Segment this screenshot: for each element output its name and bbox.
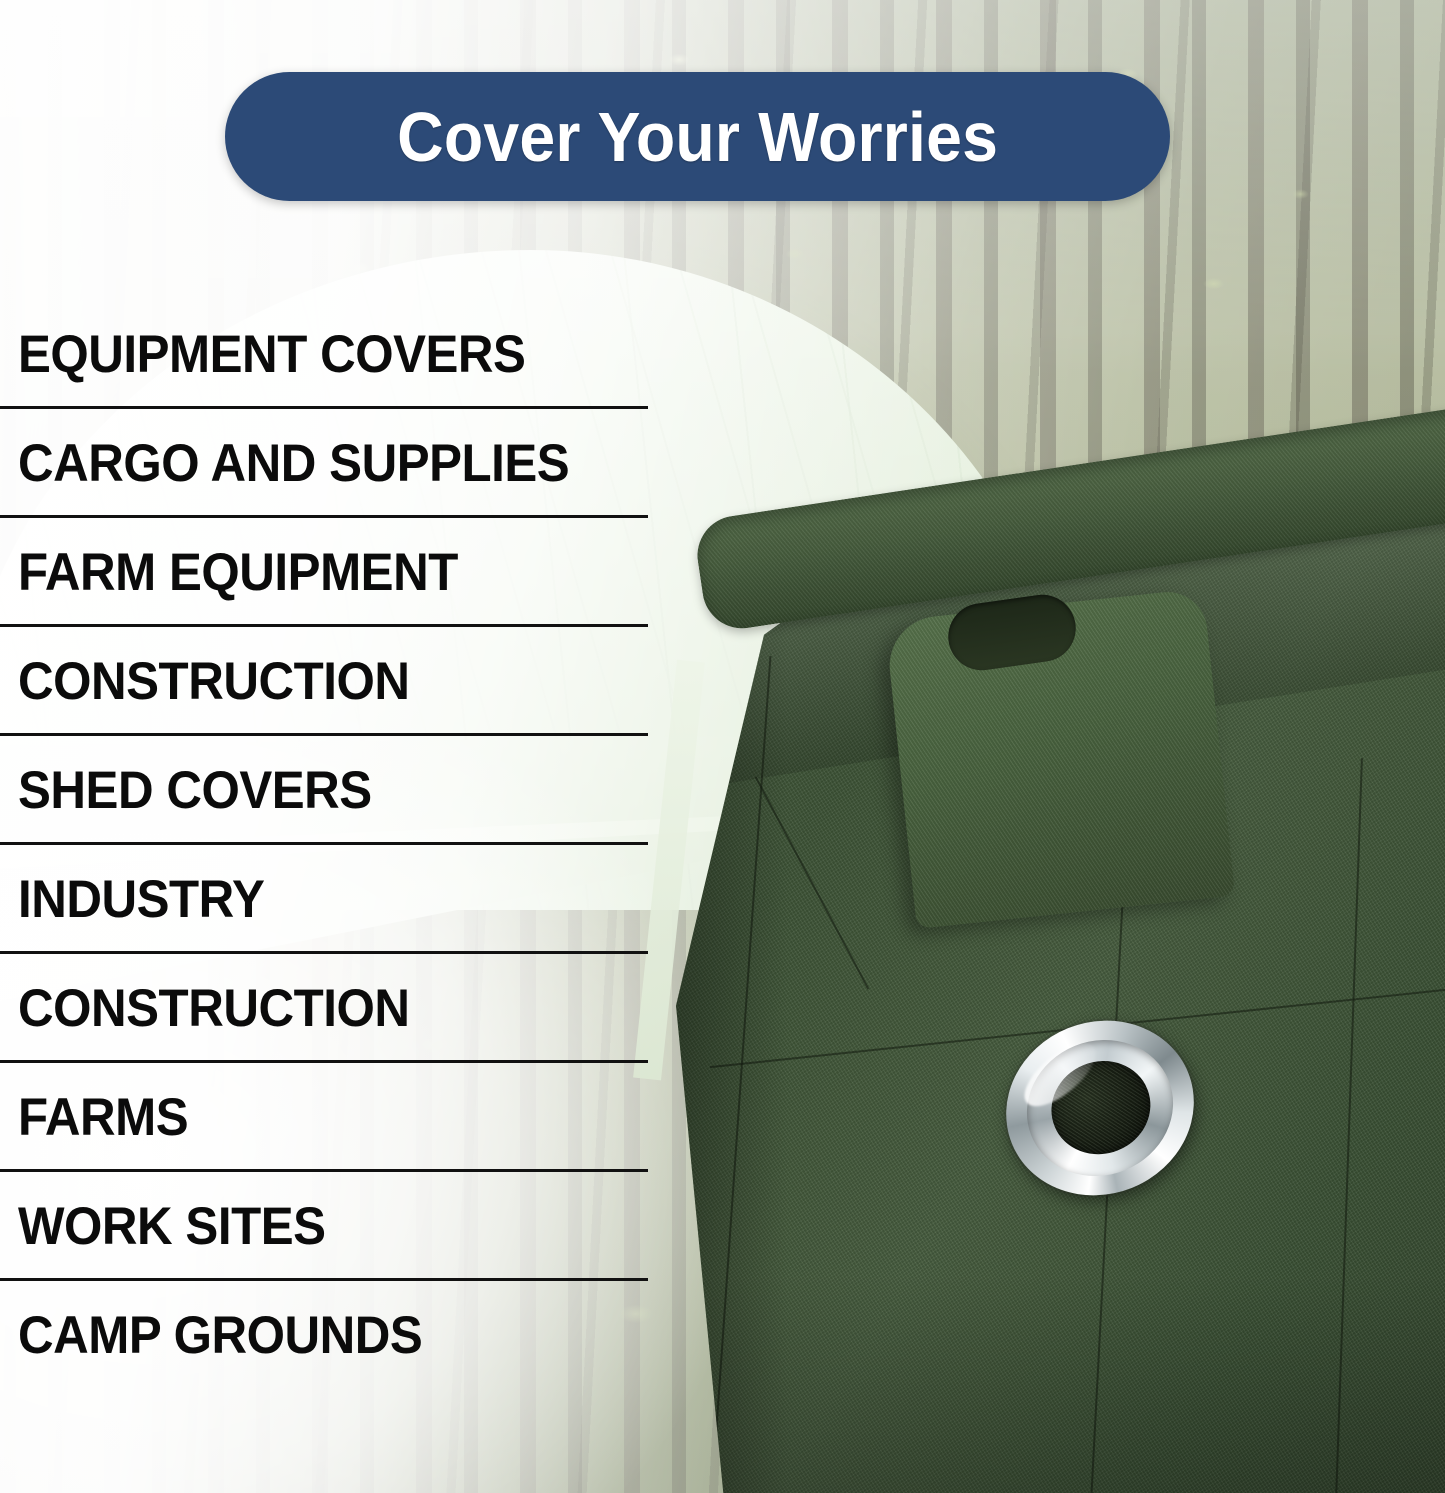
list-item-label: CONSTRUCTION [18, 982, 409, 1035]
list-item-label: SHED COVERS [18, 764, 372, 817]
list-item: WORK SITES [0, 1172, 652, 1281]
tarp-shadow-bottom [660, 1273, 1445, 1493]
list-item: CONSTRUCTION [0, 954, 652, 1063]
banner-title-text: Cover Your Worries [397, 97, 998, 177]
list-item-label: WORK SITES [18, 1200, 326, 1253]
use-case-list: EQUIPMENT COVERS CARGO AND SUPPLIES FARM… [0, 300, 652, 1390]
list-item-label: EQUIPMENT COVERS [18, 328, 525, 381]
list-item: CAMP GROUNDS [0, 1281, 652, 1390]
list-item-label: FARMS [18, 1091, 188, 1144]
list-item: FARMS [0, 1063, 652, 1172]
list-item: FARM EQUIPMENT [0, 518, 652, 627]
list-item: SHED COVERS [0, 736, 652, 845]
list-item-label: CONSTRUCTION [18, 655, 409, 708]
list-item-label: CARGO AND SUPPLIES [18, 437, 569, 490]
list-item-label: FARM EQUIPMENT [18, 546, 458, 599]
list-item-label: CAMP GROUNDS [18, 1309, 422, 1362]
list-item: EQUIPMENT COVERS [0, 300, 652, 409]
green-tarp-photo [660, 470, 1445, 1493]
list-item: CARGO AND SUPPLIES [0, 409, 652, 518]
list-item: CONSTRUCTION [0, 627, 652, 736]
list-item: INDUSTRY [0, 845, 652, 954]
title-banner: Cover Your Worries [225, 72, 1170, 201]
infographic-canvas: Cover Your Worries EQUIPMENT COVERS CARG… [0, 0, 1445, 1493]
list-item-label: INDUSTRY [18, 873, 264, 926]
